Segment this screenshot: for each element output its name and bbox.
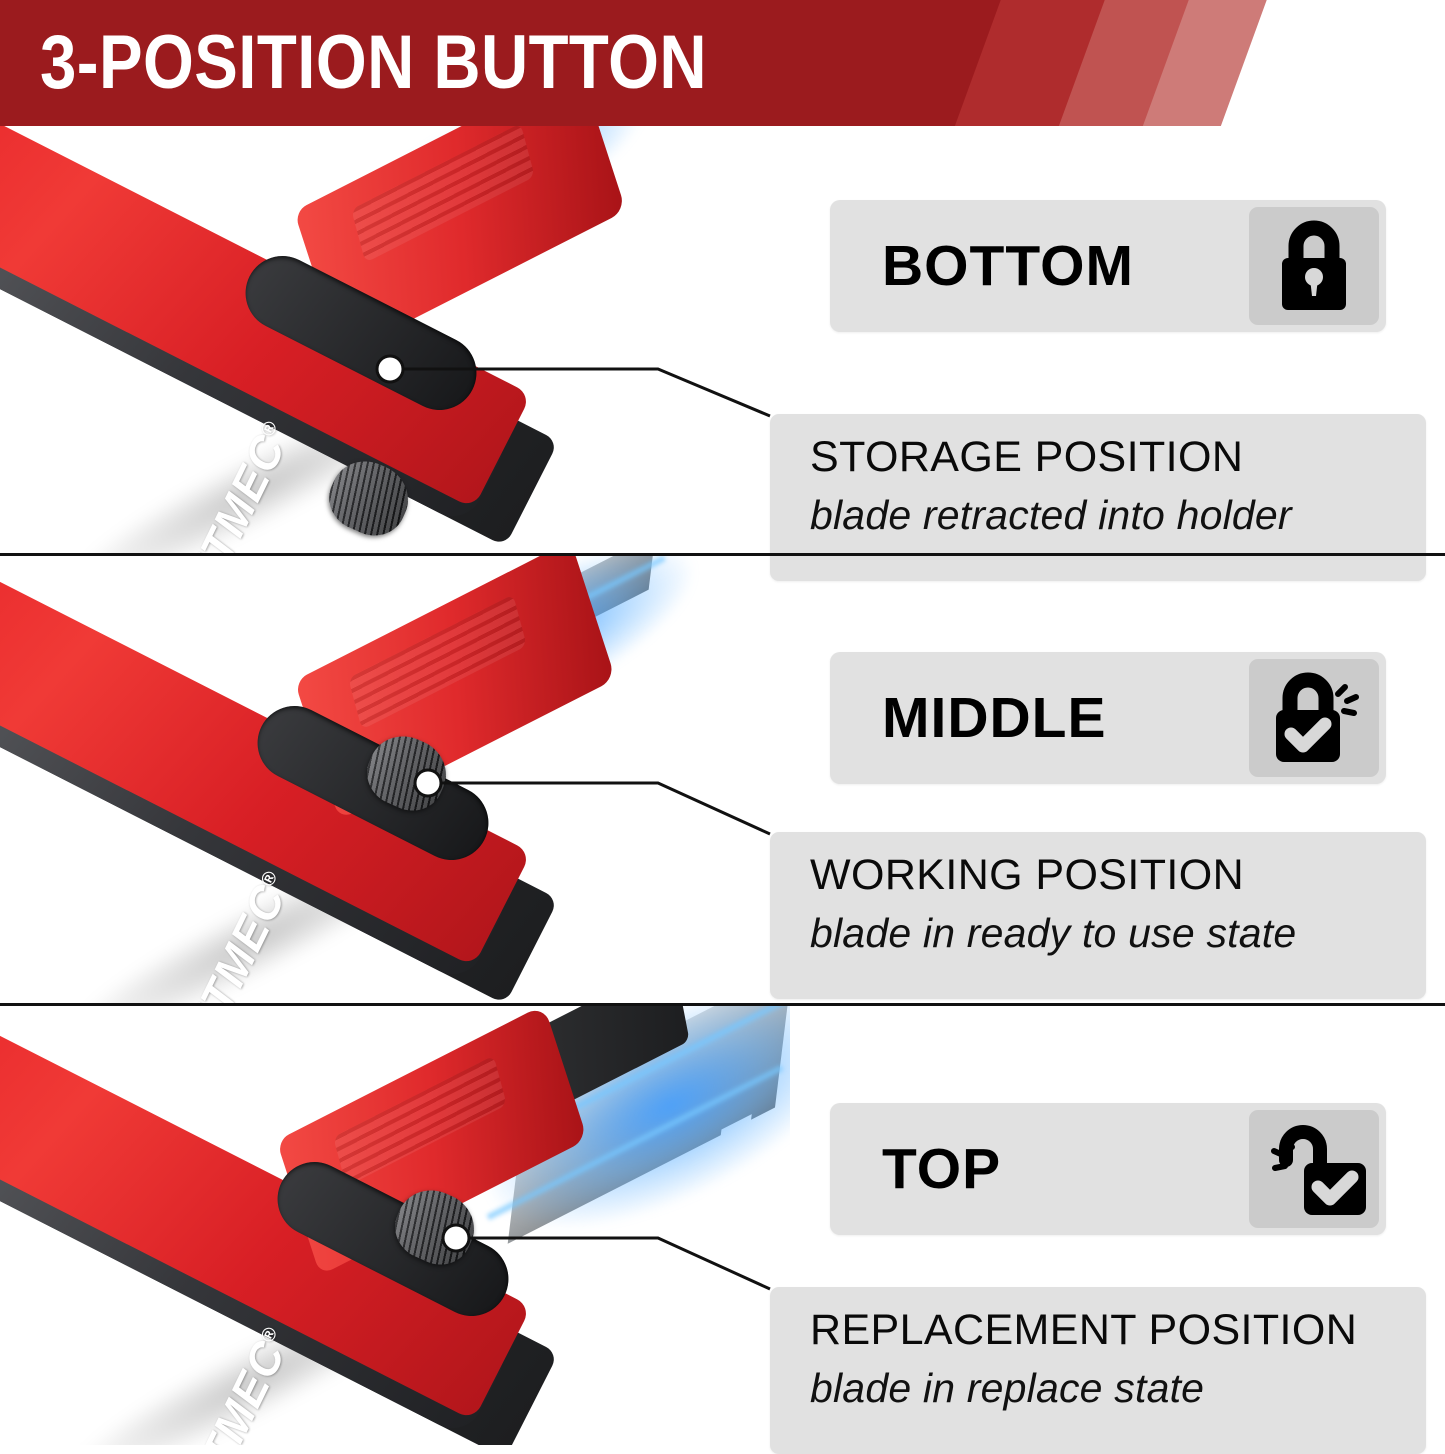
- description-box-middle: WORKING POSITION blade in ready to use s…: [770, 832, 1426, 999]
- position-label-bottom: BOTTOM: [830, 233, 1249, 299]
- padlock-closed-check-icon: [1249, 659, 1379, 777]
- panel-top: HAUTMEC® TOP REPLACEMENT POSITION blade …: [0, 1006, 1445, 1445]
- product-photo-bottom: HAUTMEC®: [0, 126, 790, 556]
- description-sub-bottom: blade retracted into holder: [810, 491, 1426, 540]
- product-photo-middle: HAUTMEC®: [0, 556, 790, 1006]
- panel-middle: HAUTMEC® MIDDLE WORKING POSITION blade i…: [0, 556, 1445, 1006]
- description-title-bottom: STORAGE POSITION: [810, 432, 1426, 483]
- description-title-middle: WORKING POSITION: [810, 850, 1426, 901]
- padlock-open-check-icon: [1249, 1110, 1379, 1228]
- header-banner: 3-POSITION BUTTON: [0, 0, 1445, 126]
- infographic-page: 3-POSITION BUTTON HAUTMEC®: [0, 0, 1445, 1445]
- padlock-closed-locked-icon: [1249, 207, 1379, 325]
- description-title-top: REPLACEMENT POSITION: [810, 1305, 1426, 1356]
- panel-bottom: HAUTMEC® BOTTOM STORAGE POSITION blade r…: [0, 126, 1445, 556]
- description-sub-top: blade in replace state: [810, 1364, 1426, 1413]
- position-label-top: TOP: [830, 1136, 1249, 1202]
- title-pill-middle[interactable]: MIDDLE: [830, 652, 1386, 784]
- description-box-top: REPLACEMENT POSITION blade in replace st…: [770, 1287, 1426, 1454]
- description-sub-middle: blade in ready to use state: [810, 909, 1426, 958]
- title-pill-bottom[interactable]: BOTTOM: [830, 200, 1386, 332]
- title-pill-top[interactable]: TOP: [830, 1103, 1386, 1235]
- position-label-middle: MIDDLE: [830, 685, 1249, 751]
- page-title: 3-POSITION BUTTON: [40, 16, 857, 108]
- product-photo-top: HAUTMEC®: [0, 1006, 790, 1445]
